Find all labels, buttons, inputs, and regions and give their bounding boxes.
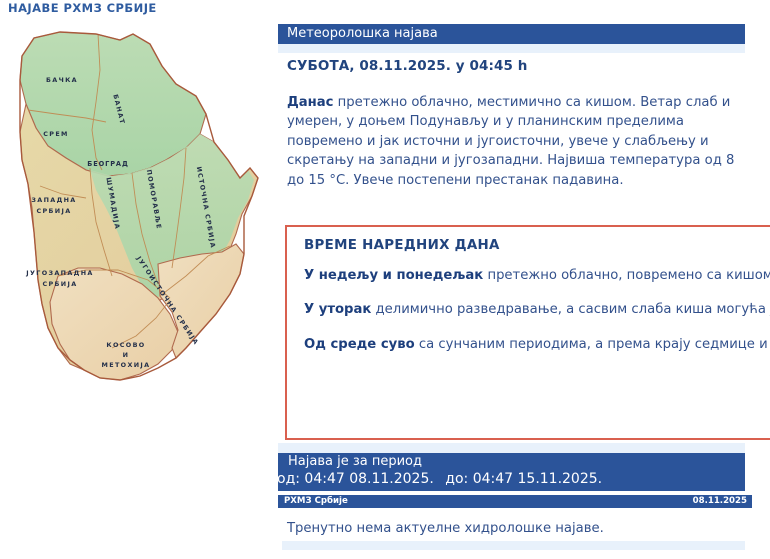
next-days-paragraph: У недељу и понедељак претежно облачно, п…: [304, 266, 770, 285]
map-label-beograd: БЕОГРАД: [87, 160, 128, 168]
period-from-value: 04:47 08.11.2025.: [304, 471, 433, 487]
today-forecast-body: претежно облачно, местимично са кишом. В…: [287, 95, 734, 188]
next-days-title: ВРЕМЕ НАРЕДНИХ ДАНА: [304, 238, 770, 253]
today-lead-label: Данас: [287, 95, 333, 110]
next-days-body: са сунчаним периодима, а према крају сед…: [415, 337, 770, 352]
hydro-source-label: РХМЗ Србије: [284, 495, 348, 508]
next-days-body: претежно облачно, повремено са кишом.: [483, 268, 770, 283]
bottom-strip: [282, 541, 745, 550]
next-days-box: ВРЕМЕ НАРЕДНИХ ДАНА У недељу и понедељак…: [285, 225, 770, 440]
next-days-paragraph: У уторак делимично разведравање, а сасви…: [304, 300, 770, 319]
hydro-source-bar: РХМЗ Србије 08.11.2025: [278, 495, 752, 508]
forecast-panel: Метеоролошка најава СУБОТА, 08.11.2025. …: [276, 0, 770, 559]
next-days-lead: У недељу и понедељак: [304, 268, 483, 283]
map-label-zapadna-srbija: СРБИЈА: [36, 207, 71, 215]
next-days-lead: Од среде суво: [304, 337, 415, 352]
map-svg: БАЧКА БАНАТ СРЕМ БЕОГРАД ЗАПАДНА СРБИЈА …: [0, 18, 272, 400]
period-to-value: 04:47 15.11.2025.: [473, 471, 602, 487]
period-to-label: до:: [445, 471, 468, 487]
map-label-jugozapadna-srbija: СРБИЈА: [42, 280, 77, 288]
meteo-header-bar: Метеоролошка најава: [278, 24, 745, 44]
hydro-source-date: 08.11.2025: [693, 495, 747, 508]
map-label-jugozapadna: ЈУГОЗАПАДНА: [25, 269, 93, 277]
period-from-label: од:: [277, 471, 300, 487]
hydro-message: Тренутно нема актуелне хидролошке најаве…: [287, 521, 604, 536]
map-label-srem: СРЕМ: [43, 130, 69, 138]
map-label-kosovo: КОСОВО: [106, 341, 145, 349]
map-label-backa: БАЧКА: [46, 76, 78, 84]
today-forecast-text: Данас претежно облачно, местимично са ки…: [287, 93, 755, 190]
map-label-zapadna: ЗАПАДНА: [31, 196, 76, 204]
map-label-i: И: [123, 351, 130, 359]
serbia-region-map: БАЧКА БАНАТ СРЕМ БЕОГРАД ЗАПАДНА СРБИЈА …: [0, 18, 272, 400]
period-range: од: 04:47 08.11.2025. до: 04:47 15.11.20…: [277, 471, 602, 487]
header-underline-strip: [278, 44, 745, 53]
issue-time: СУБОТА, 08.11.2025. у 04:45 h: [287, 58, 757, 74]
period-top-strip: [278, 443, 745, 453]
next-days-body: делимично разведравање, а сасвим слаба к…: [371, 302, 770, 317]
page-title: НАЈАВЕ РХМЗ СРБИЈЕ: [8, 1, 157, 15]
next-days-paragraph: Од среде суво са сунчаним периодима, а п…: [304, 335, 770, 354]
next-days-lead: У уторак: [304, 302, 371, 317]
map-label-metohija: МЕТОХИЈА: [102, 361, 151, 369]
period-title: Најава је за период: [288, 454, 422, 469]
